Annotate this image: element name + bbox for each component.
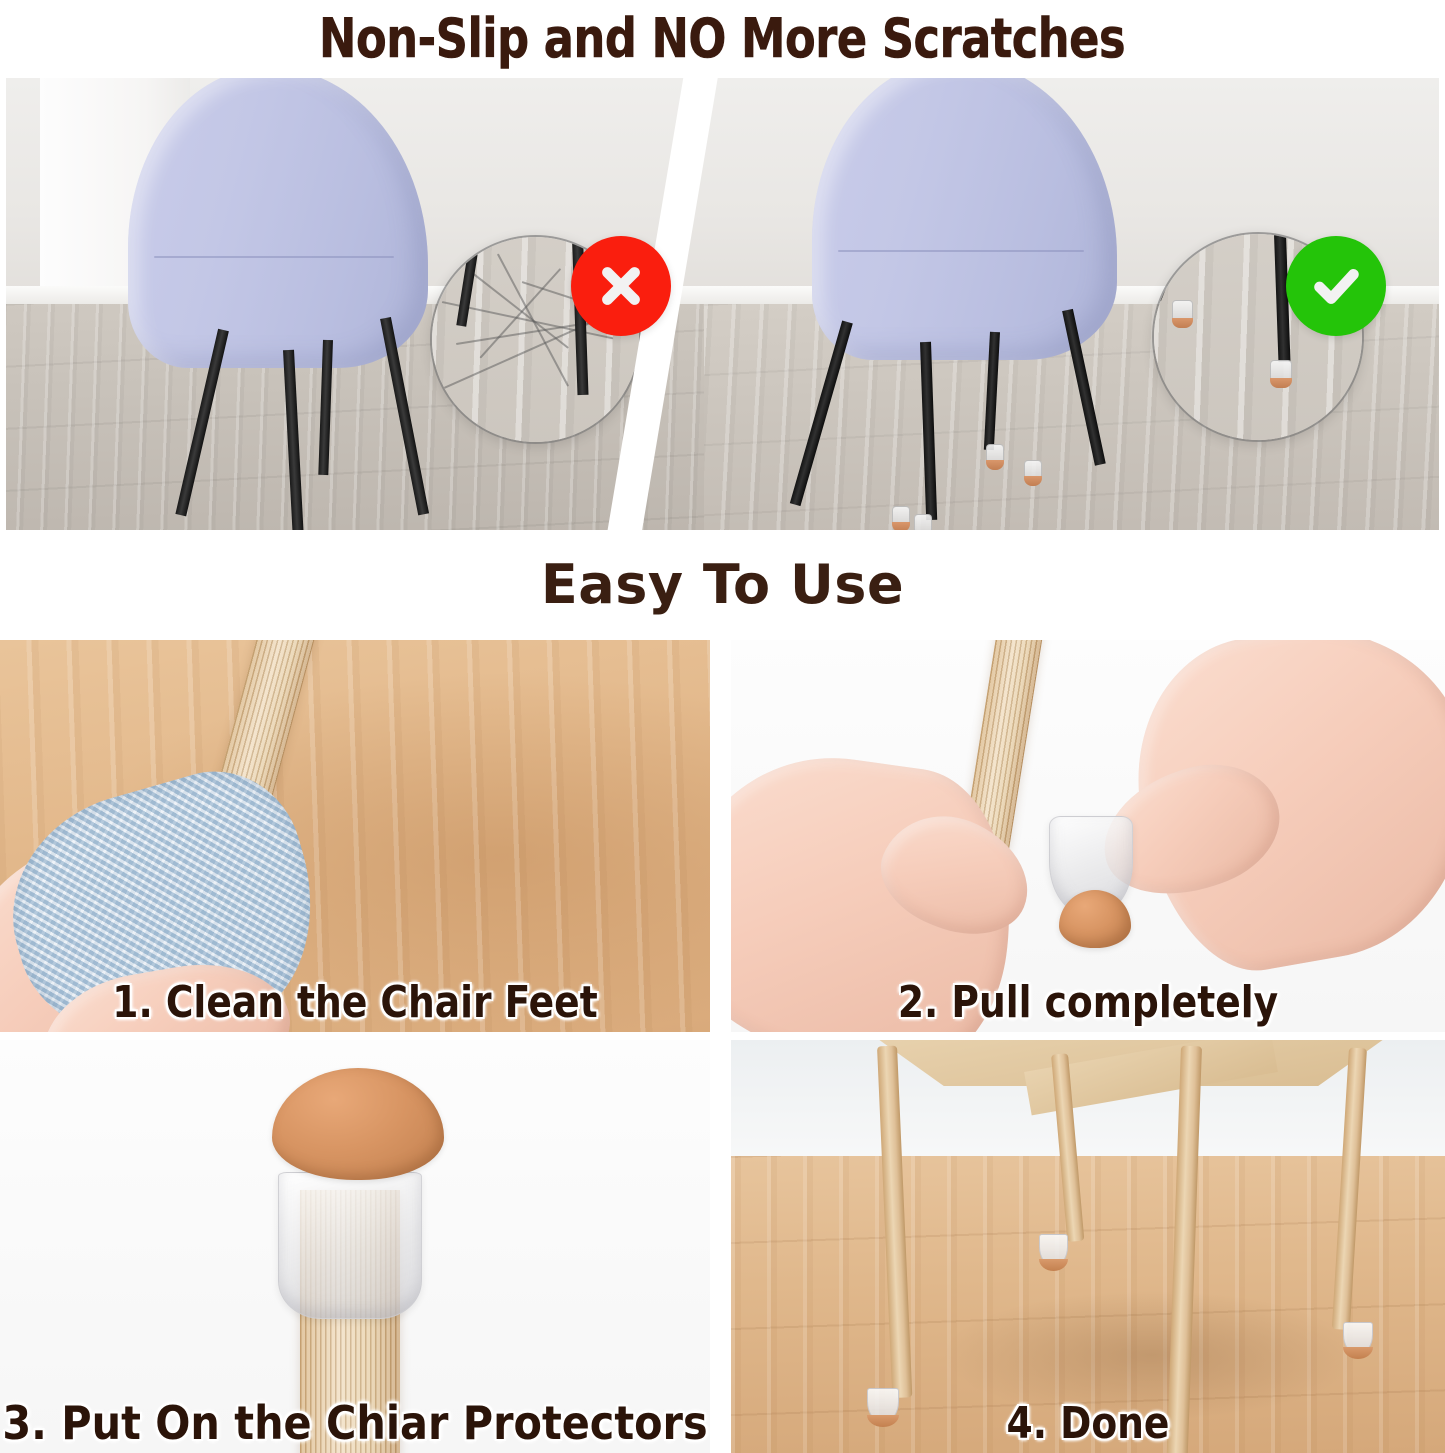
- leg-protector-cap: [1270, 360, 1292, 384]
- page-title: Non-Slip and NO More Scratches: [319, 12, 1125, 66]
- strip-edge-right: [1439, 78, 1445, 530]
- leg-protector-cap: [1039, 1234, 1068, 1266]
- status-badge-bad: [571, 236, 671, 336]
- step-caption-3: 3. Put On the Chiar Protectors: [0, 1399, 710, 1447]
- cork-pad: [892, 522, 910, 530]
- step-caption-2: 2. Pull completely: [749, 980, 1427, 1026]
- chair-leg-bad: [380, 317, 429, 515]
- chair-leg-bad: [283, 350, 305, 530]
- section-title-band: Easy To Use: [0, 530, 1445, 640]
- leg-protector-cap: [914, 514, 932, 530]
- leg-protector-cap: [986, 444, 1004, 466]
- status-badge-good: [1286, 236, 1386, 336]
- step-panel-1: 1. Clean the Chair Feet: [0, 640, 710, 1032]
- main-title-band: Non-Slip and NO More Scratches: [0, 0, 1445, 78]
- section-title: Easy To Use: [541, 558, 904, 612]
- step-caption-1: 1. Clean the Chair Feet: [18, 980, 693, 1026]
- chair-leg-good: [920, 342, 937, 520]
- cross-icon: [590, 255, 652, 317]
- comparison-panel-good: [704, 78, 1445, 530]
- clear-protector-sleeve: [278, 1172, 422, 1319]
- step-caption-4: 4. Done: [749, 1401, 1427, 1447]
- step-panel-4: 4. Done: [731, 1040, 1445, 1453]
- step-panel-3: 3. Put On the Chiar Protectors: [0, 1040, 710, 1453]
- comparison-strip: [0, 78, 1445, 530]
- room-scene-good: [704, 78, 1445, 530]
- leg-protector-cap: [1343, 1322, 1373, 1354]
- steps-grid: 1. Clean the Chair Feet 2. Pull complete…: [0, 640, 1445, 1453]
- check-icon: [1305, 255, 1367, 317]
- step-panel-2: 2. Pull completely: [731, 640, 1445, 1032]
- chair-seam: [154, 256, 394, 258]
- leg-protector-cap: [892, 506, 910, 528]
- strip-edge-left: [0, 78, 6, 530]
- leg-protector-cap: [1024, 460, 1042, 482]
- cork-pad: [1024, 476, 1042, 486]
- chair-leg-good: [790, 320, 853, 506]
- leg-protector-cap: [1172, 300, 1193, 324]
- chair-seam: [838, 250, 1084, 252]
- cork-pad: [986, 460, 1004, 470]
